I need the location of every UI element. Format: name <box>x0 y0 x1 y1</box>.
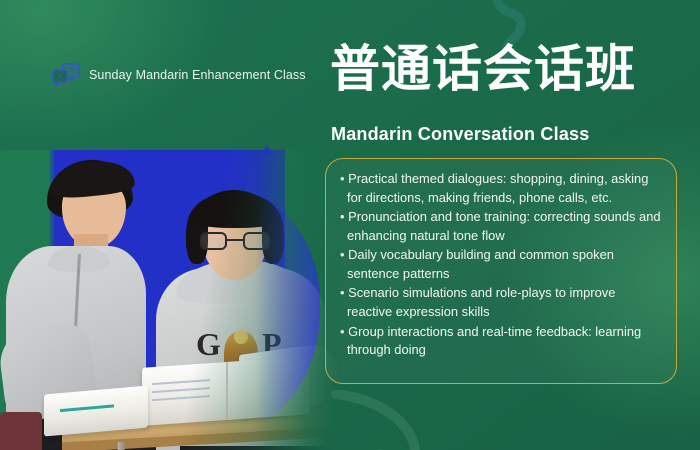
translate-speech-bubbles-icon: A 文 <box>52 62 80 88</box>
eyebrow-text: Sunday Mandarin Enhancement Class <box>89 68 306 82</box>
content-column: 普通话会话班 Mandarin Conversation Class Pract… <box>322 0 700 450</box>
list-item: Daily vocabulary building and common spo… <box>340 246 663 283</box>
eyebrow-label: A 文 Sunday Mandarin Enhancement Class <box>52 62 306 88</box>
list-item: Scenario simulations and role-plays to i… <box>340 284 663 321</box>
svg-text:文: 文 <box>69 66 77 76</box>
chinese-title: 普通话会话班 <box>330 44 636 94</box>
list-item: Group interactions and real-time feedbac… <box>340 323 663 360</box>
english-subtitle: Mandarin Conversation Class <box>331 124 589 145</box>
classroom-photo: G P <box>0 150 345 450</box>
list-item: Practical themed dialogues: shopping, di… <box>340 170 663 207</box>
svg-text:A: A <box>57 72 63 82</box>
features-list: Practical themed dialogues: shopping, di… <box>340 170 663 360</box>
features-box: Practical themed dialogues: shopping, di… <box>325 158 677 384</box>
poster-canvas: G P <box>0 0 700 450</box>
list-item: Pronunciation and tone training: correct… <box>340 208 663 245</box>
